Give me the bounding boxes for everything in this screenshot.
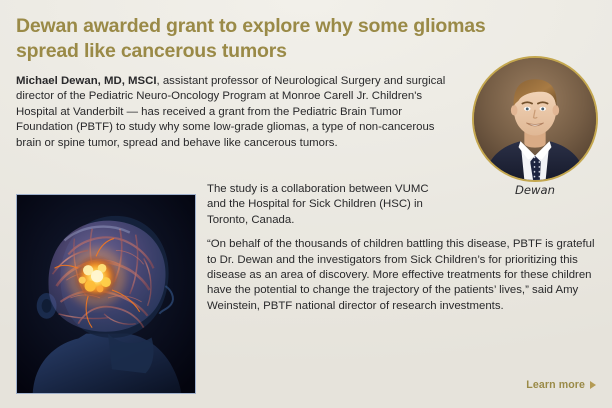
portrait-illustration xyxy=(474,58,596,180)
learn-more-link[interactable]: Learn more xyxy=(526,379,596,391)
triangle-right-icon xyxy=(590,381,596,389)
article-body: The study is a collaboration between VUM… xyxy=(207,182,599,323)
lead-paragraph: Michael Dewan, MD, MSCI, assistant profe… xyxy=(16,74,456,151)
portrait-photo xyxy=(472,56,598,182)
news-card: Dewan awarded grant to explore why some … xyxy=(0,0,612,408)
avatar xyxy=(472,56,598,182)
subject-name: Michael Dewan, MD, MSCI xyxy=(16,75,157,87)
brain-illustration xyxy=(17,195,195,393)
collaboration-paragraph: The study is a collaboration between VUM… xyxy=(207,182,432,228)
brain-tumor-image xyxy=(16,194,196,394)
learn-more-label: Learn more xyxy=(526,379,585,391)
quote-paragraph: “On behalf of the thousands of children … xyxy=(207,237,597,314)
